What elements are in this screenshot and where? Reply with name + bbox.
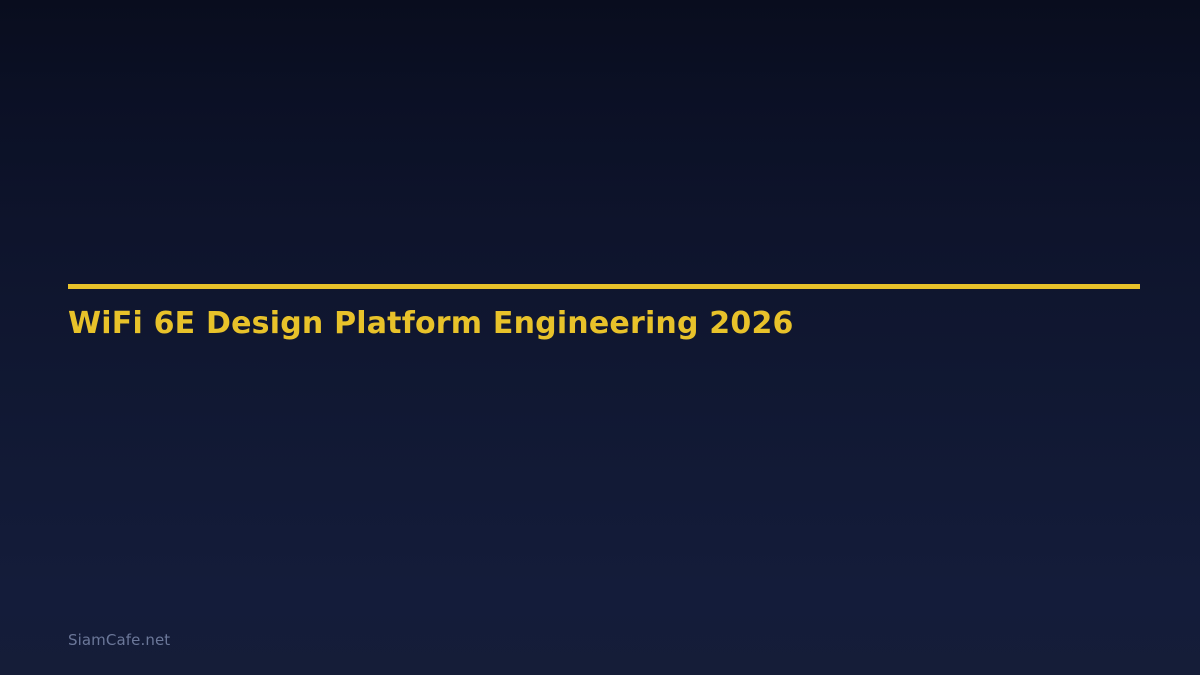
title-block: WiFi 6E Design Platform Engineering 2026 <box>68 305 1140 343</box>
footer: SiamCafe.net <box>68 629 170 651</box>
footer-attribution-text: SiamCafe.net <box>68 629 170 651</box>
title-slide: WiFi 6E Design Platform Engineering 2026… <box>0 0 1200 675</box>
page-title: WiFi 6E Design Platform Engineering 2026 <box>68 305 1140 343</box>
gold-accent-rule <box>68 284 1140 289</box>
